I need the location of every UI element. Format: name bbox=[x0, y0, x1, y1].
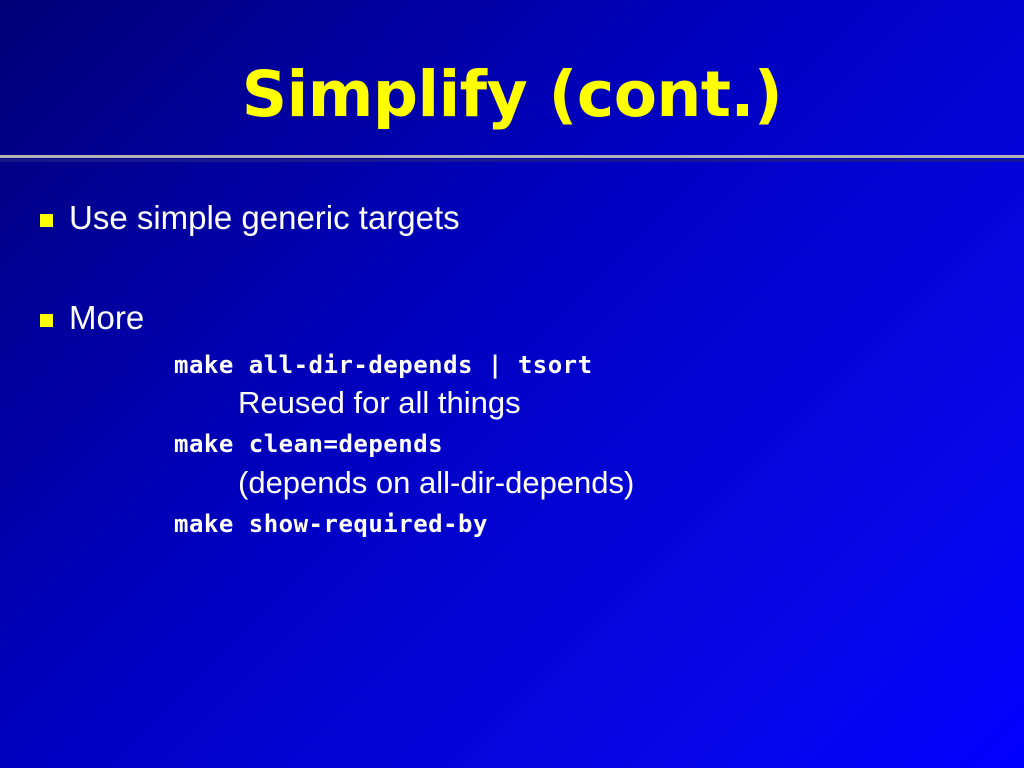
bullet-label: More bbox=[69, 298, 144, 338]
slide-title-area: Simplify (cont.) bbox=[0, 62, 1024, 128]
slide-body: Use simple generic targets More make all… bbox=[0, 182, 1024, 742]
square-bullet-icon bbox=[40, 314, 53, 327]
bullet-item-more: More bbox=[40, 298, 144, 338]
command-line-show-required-by: make show-required-by bbox=[174, 509, 488, 539]
page-title: Simplify (cont.) bbox=[242, 62, 782, 128]
note-reused-for-all-things: Reused for all things bbox=[238, 385, 521, 421]
title-divider-shadow bbox=[0, 159, 1024, 162]
note-depends-on-all-dir-depends: (depends on all-dir-depends) bbox=[238, 465, 634, 501]
bullet-item-use-simple-generic-targets: Use simple generic targets bbox=[40, 198, 460, 238]
bullet-label: Use simple generic targets bbox=[69, 198, 460, 238]
square-bullet-icon bbox=[40, 214, 53, 227]
title-divider-rule bbox=[0, 155, 1024, 158]
slide-canvas: Simplify (cont.) Use simple generic targ… bbox=[0, 0, 1024, 768]
command-line-all-dir-depends: make all-dir-depends | tsort bbox=[174, 350, 593, 380]
command-line-clean-depends: make clean=depends bbox=[174, 429, 443, 459]
